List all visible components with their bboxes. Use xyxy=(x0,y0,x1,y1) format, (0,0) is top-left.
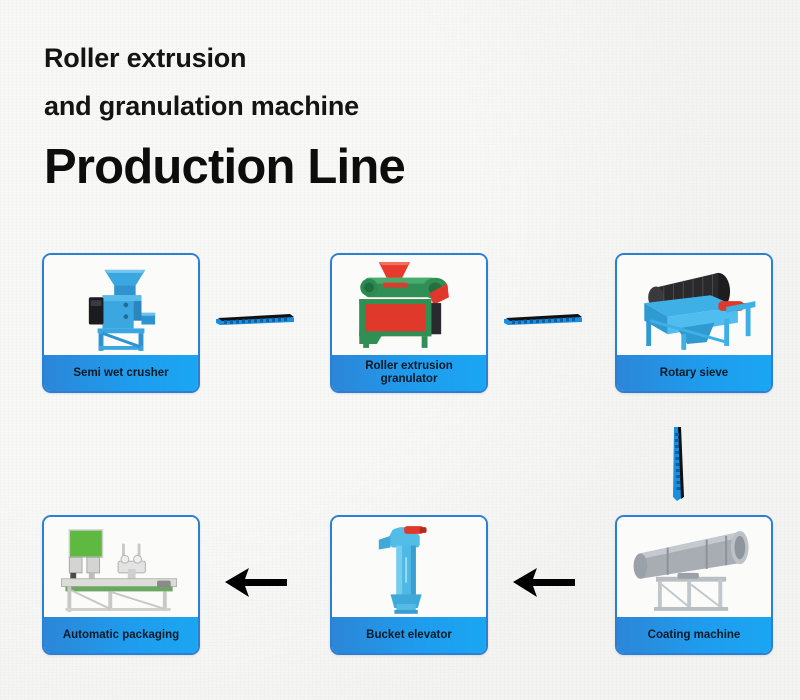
card-label-semi-wet-crusher: Semi wet crusher xyxy=(44,355,198,391)
rotary-sieve-illustration xyxy=(617,255,771,357)
card-label-coating-machine: Coating machine xyxy=(617,617,771,653)
automatic-packaging-photo xyxy=(44,517,198,619)
roller-extrusion-granulator-photo xyxy=(332,255,486,357)
flow-card-automatic-packaging[interactable]: Automatic packaging xyxy=(42,515,200,655)
flow-card-coating-machine[interactable]: Coating machine xyxy=(615,515,773,655)
bucket-elevator-illustration xyxy=(332,517,486,619)
automatic-packaging-illustration xyxy=(44,517,198,619)
title-line-3: Production Line xyxy=(44,136,564,198)
roller-extrusion-granulator-illustration xyxy=(332,255,486,357)
coating-machine-illustration xyxy=(617,517,771,619)
title-line-2: and granulation machine xyxy=(44,82,564,130)
card-label-line-1: Roller extrusion xyxy=(365,360,453,372)
semi-wet-crusher-photo xyxy=(44,255,198,357)
flow-card-bucket-elevator[interactable]: Bucket elevator xyxy=(330,515,488,655)
flow-card-roller-extrusion-granulator[interactable]: Roller extrusion granulator xyxy=(330,253,488,393)
arrow-left-icon-1 xyxy=(225,565,287,599)
rotary-sieve-photo xyxy=(617,255,771,357)
page-title: Roller extrusion and granulation machine… xyxy=(44,34,564,198)
title-line-1: Roller extrusion xyxy=(44,34,564,82)
arrow-left-icon-2 xyxy=(513,565,575,599)
flow-card-rotary-sieve[interactable]: Rotary sieve xyxy=(615,253,773,393)
bucket-elevator-photo xyxy=(332,517,486,619)
card-label-bucket-elevator: Bucket elevator xyxy=(332,617,486,653)
flow-card-semi-wet-crusher[interactable]: Semi wet crusher xyxy=(42,253,200,393)
conveyor-belt-icon-3 xyxy=(672,427,685,501)
conveyor-belt-icon-1 xyxy=(216,313,294,326)
card-label-automatic-packaging: Automatic packaging xyxy=(44,617,198,653)
production-line-diagram: Roller extrusion and granulation machine… xyxy=(0,0,800,700)
semi-wet-crusher-illustration xyxy=(44,255,198,357)
conveyor-belt-icon-2 xyxy=(504,313,582,326)
coating-machine-photo xyxy=(617,517,771,619)
card-label-line-2: granulator xyxy=(381,373,438,385)
card-label-rotary-sieve: Rotary sieve xyxy=(617,355,771,391)
card-label-roller-extrusion-granulator: Roller extrusion granulator xyxy=(332,355,486,391)
